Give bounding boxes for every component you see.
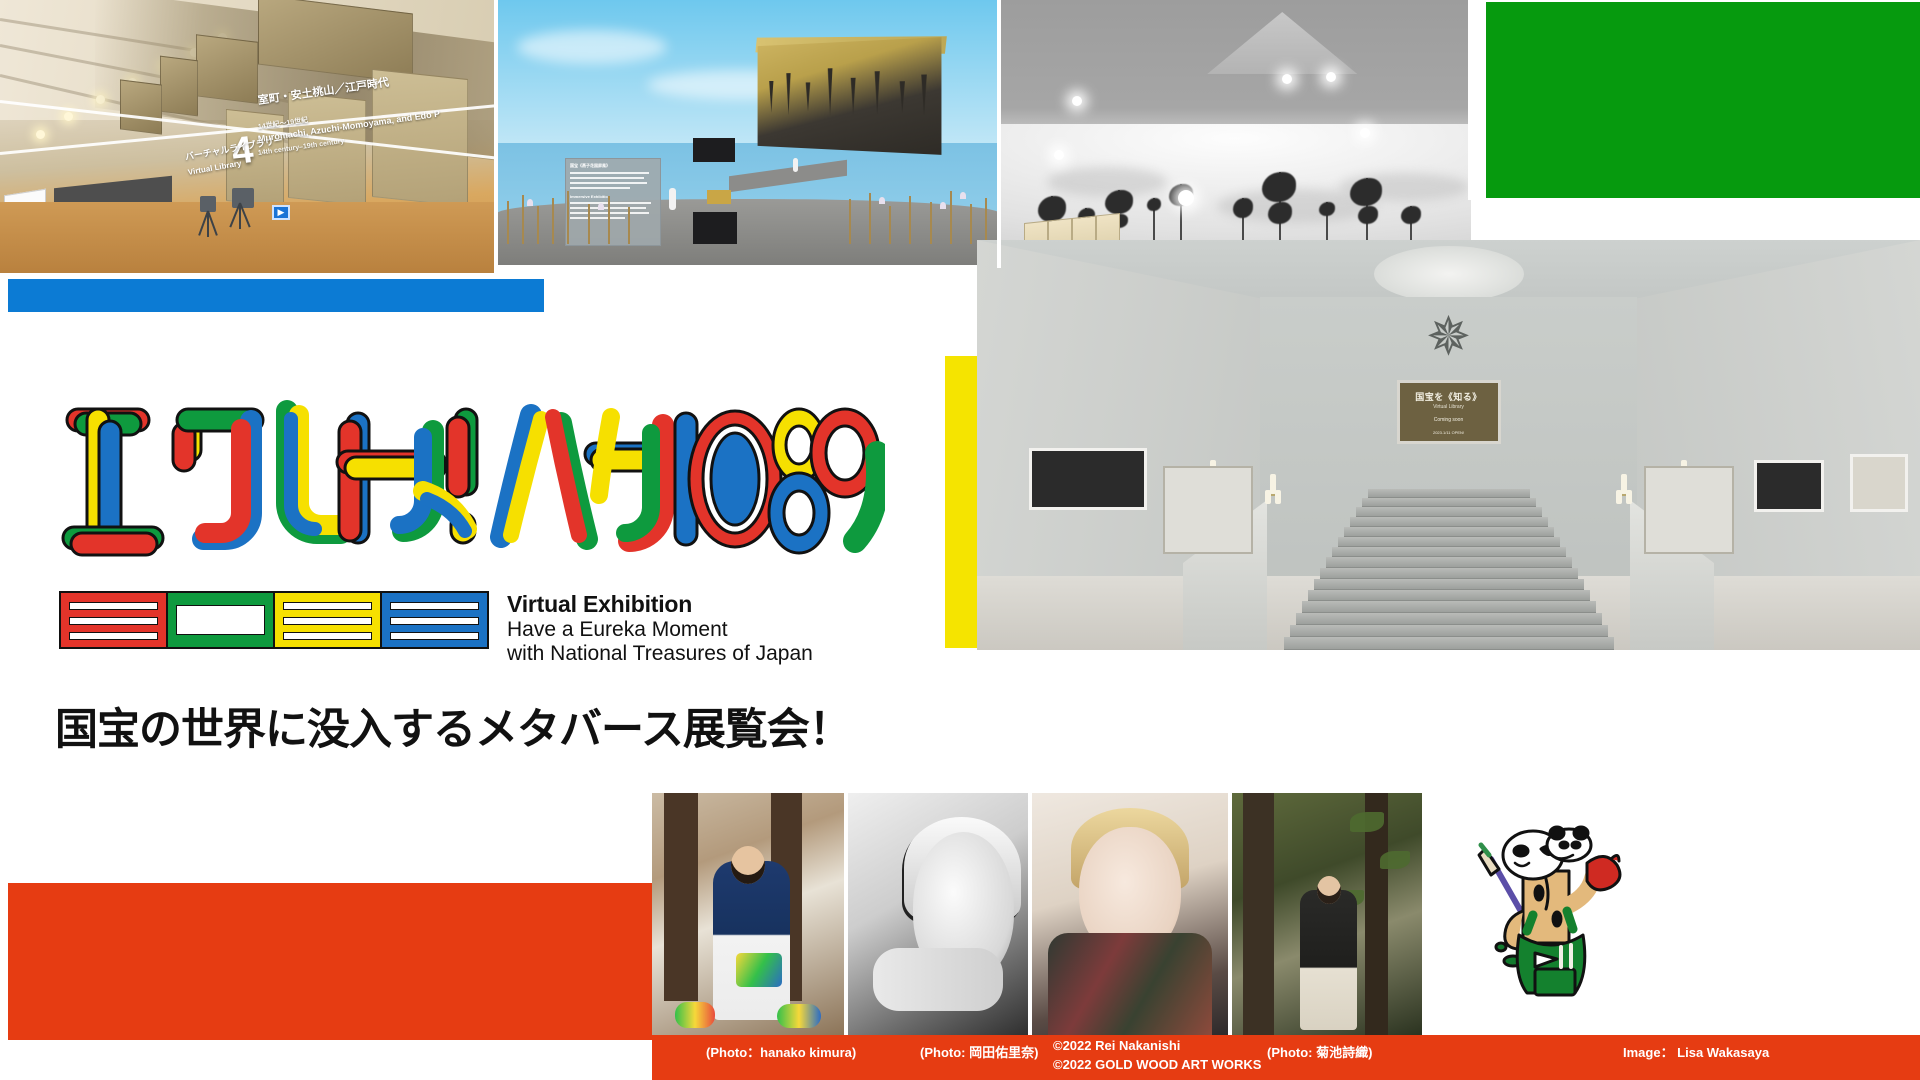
panel-separator — [997, 0, 1001, 268]
poster-canvas: 室町・安土桃山／江戸時代 14世紀〜19世紀 Muromachi, Azuchi… — [0, 0, 1920, 1080]
exhibition-logo: Virtual Exhibition Have a Eureka Moment … — [55, 395, 885, 725]
photo-credit: Image： Lisa Wakasaya — [1623, 1042, 1769, 1061]
exhibit-display-frame — [1850, 454, 1908, 512]
blue-color-bar — [8, 279, 544, 312]
display-screen — [693, 138, 735, 162]
tagline-en-line3: with National Treasures of Japan — [507, 642, 877, 666]
artist-photo — [848, 793, 1028, 1035]
ceiling-rosette — [1374, 246, 1524, 302]
logo-wordmark-svg — [55, 395, 885, 585]
vr-screenshot-iris-pond: 国宝《燕子花図屏風》 Immersive Exhibition — [497, 0, 1000, 265]
tagline-japanese: 国宝の世界に没入するメタバース展覧会！ — [55, 695, 885, 757]
photo-credit: (Photo: 菊池詩織) — [1267, 1042, 1372, 1061]
virtual-library-sign: 国宝を《知る》 Virtual Library Coming soon 2023… — [1397, 380, 1501, 444]
play-icon[interactable]: ▶ — [272, 205, 290, 220]
shoji-screen — [1163, 466, 1253, 554]
camera-tripod — [232, 188, 248, 208]
red-color-block — [8, 883, 652, 1040]
artist-photo — [1032, 793, 1228, 1035]
vr-screenshot-main-hall: ✵ 国宝を《知る》 Virtual Library Coming soon 20… — [977, 240, 1920, 650]
exhibit-display-frame — [1029, 448, 1147, 510]
exhibit-display-frame — [1754, 460, 1824, 512]
torarin-mascot-icon — [1461, 819, 1631, 1009]
artist-photo — [1232, 793, 1422, 1035]
artist-photo — [652, 793, 844, 1035]
mountain-silhouette — [1207, 12, 1357, 74]
reed-field — [497, 164, 1000, 244]
sign-title-en: Virtual Library — [1400, 404, 1498, 410]
camera-tripod — [200, 196, 216, 212]
photo-credit: (Photo：hanako kimura) — [706, 1042, 856, 1061]
year-digit — [275, 593, 382, 647]
spotlight — [36, 130, 45, 139]
spotlight — [64, 112, 73, 121]
artist-portrait-strip — [652, 793, 1670, 1035]
golden-pavilion — [758, 37, 942, 155]
chandelier — [1616, 474, 1632, 520]
sign-title-jp: 国宝を《知る》 — [1400, 390, 1498, 403]
mascot-illustration — [1426, 793, 1666, 1035]
panel-separator — [494, 0, 498, 275]
vr-screenshot-museum-corridor: 室町・安土桃山／江戸時代 14世紀〜19世紀 Muromachi, Azuchi… — [0, 0, 497, 273]
artwork-panel — [160, 56, 198, 117]
logo-year-band — [59, 591, 489, 649]
year-digit — [382, 593, 487, 647]
sign-status: Coming soon — [1400, 417, 1498, 423]
photo-credit: ©2022 Rei Nakanishi — [1053, 1038, 1180, 1053]
grand-staircase — [1284, 460, 1614, 650]
snowflake-ornament-icon: ✵ — [1422, 310, 1476, 364]
photo-credit: (Photo: 岡田佑里奈) — [920, 1042, 1038, 1061]
tagline-en-line2: Have a Eureka Moment — [507, 618, 877, 642]
green-color-block — [1485, 2, 1920, 198]
logo-wordmark — [55, 395, 885, 585]
artwork-panel — [196, 34, 258, 104]
tagline-english: Virtual Exhibition Have a Eureka Moment … — [507, 591, 877, 665]
year-digit — [61, 593, 168, 647]
shoji-screen — [1644, 466, 1734, 554]
photo-credit: ©2022 GOLD WOOD ART WORKS — [1053, 1057, 1261, 1072]
sign-status-note: 2023.1/11 OPEN! — [1400, 430, 1498, 435]
panel-separator — [1468, 0, 1486, 200]
chandelier — [1265, 474, 1281, 520]
year-digit — [168, 593, 275, 647]
vr-screenshot-snow-forest — [1000, 0, 1471, 270]
cloud — [517, 30, 667, 64]
artwork-panel — [120, 79, 162, 134]
corridor-floor — [0, 202, 497, 273]
tagline-en-line1: Virtual Exhibition — [507, 591, 877, 618]
